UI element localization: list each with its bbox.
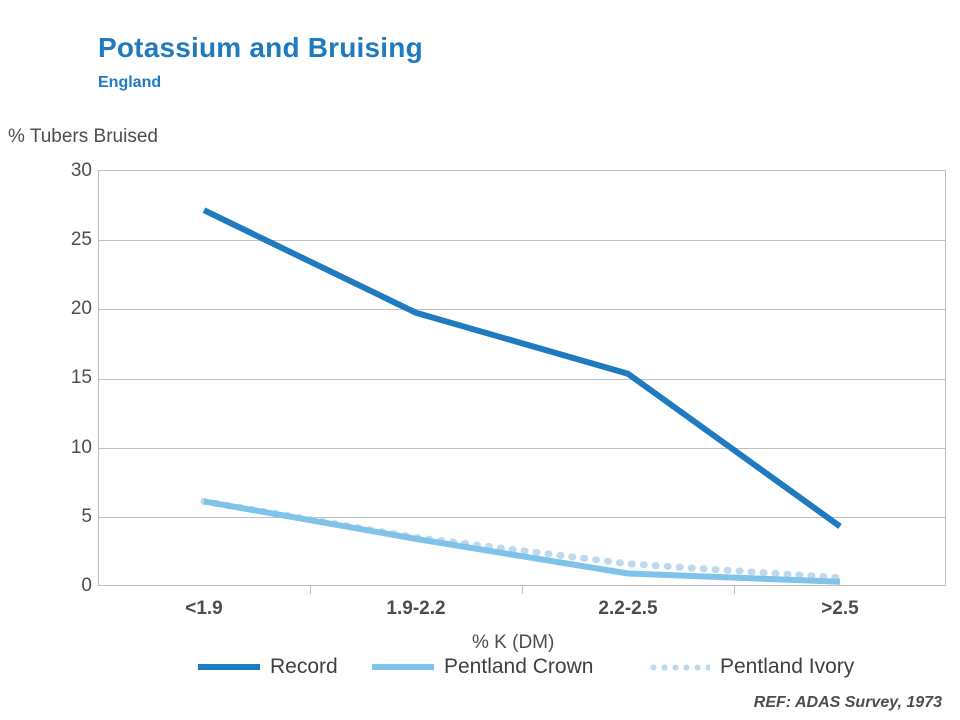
y-axis-label: % Tubers Bruised [8,126,158,148]
legend-label-pentland-ivory: Pentland Ivory [720,655,854,679]
x-tick-1: 1.9-2.2 [336,598,496,620]
legend-item-pentland-ivory[interactable]: Pentland Ivory [648,650,854,684]
x-tick-2: 2.2-2.5 [548,598,708,620]
legend-label-record: Record [270,655,338,679]
chart-title: Potassium and Bruising [98,32,423,64]
x-tickmark-1 [310,586,311,594]
y-tick-15: 15 [32,367,92,389]
y-tick-0: 0 [32,575,92,597]
series-line-record [204,210,840,526]
y-tick-5: 5 [32,506,92,528]
chart-subtitle: England [98,74,161,92]
x-tick-0: <1.9 [124,598,284,620]
legend-item-record[interactable]: Record [198,650,338,684]
legend-swatch-pentland-ivory-icon [648,664,710,671]
y-tick-10: 10 [32,437,92,459]
y-tick-30: 30 [32,160,92,182]
legend-label-pentland-crown: Pentland Crown [444,655,593,679]
legend-swatch-record-icon [198,664,260,670]
source-annotation: REF: ADAS Survey, 1973 [754,694,942,712]
legend-swatch-pentland-crown-icon [372,664,434,670]
x-tickmark-2 [522,586,523,594]
series-line-pentland-crown [204,501,840,581]
x-tick-3: >2.5 [760,598,920,620]
chart-container: Potassium and Bruising England % Tubers … [0,0,960,720]
y-tick-20: 20 [32,298,92,320]
series-line-pentland-ivory [204,501,840,577]
y-tick-25: 25 [32,229,92,251]
legend-item-pentland-crown[interactable]: Pentland Crown [372,650,593,684]
x-tickmark-3 [734,586,735,594]
chart-legend: Record Pentland Crown Pentland Ivory [0,650,960,684]
series-layer [98,170,946,586]
